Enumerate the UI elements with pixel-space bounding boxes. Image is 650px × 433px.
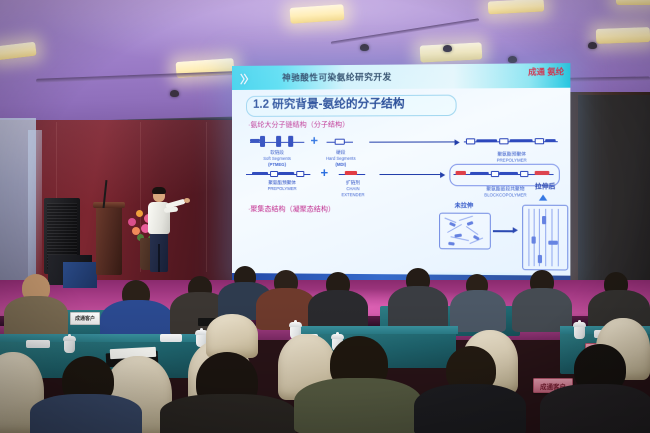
soft-segment-block bbox=[260, 136, 265, 147]
unstretched-label: 未拉伸 bbox=[443, 205, 484, 211]
audience-shoulders bbox=[256, 288, 316, 330]
prepolymer2-block bbox=[270, 171, 278, 177]
block-copolymer-block bbox=[520, 171, 528, 177]
ceiling-camera-icon bbox=[443, 45, 452, 52]
banner-logo-text: 成通 氨纶 bbox=[528, 66, 564, 78]
soft-segment-block bbox=[250, 139, 260, 142]
prepolymer-block-fill bbox=[476, 139, 497, 142]
prepolymer2-label-en: PREPOLYMER bbox=[246, 186, 318, 191]
table-top bbox=[296, 326, 458, 334]
chain-extender-label-en1: CHAIN bbox=[333, 186, 374, 191]
folded-napkin bbox=[26, 340, 50, 348]
banquet-chair bbox=[206, 314, 258, 358]
audience-shoulders bbox=[388, 286, 448, 330]
chain-extender-label-en2: EXTENDER bbox=[331, 192, 376, 197]
soft-segment-code: (PTMEG) bbox=[254, 162, 300, 167]
prepolymer2-block bbox=[278, 171, 294, 174]
hard-segment-label-cn: 硬段 bbox=[320, 150, 361, 156]
projection-screen: 〉〉 神驰酸性可染氨纶研究开发 成通 氨纶 1.2 研究背景-氨纶的分子结构 ·… bbox=[232, 63, 570, 285]
placard-white: 成通客户 bbox=[70, 312, 100, 325]
wall-left-light-strip-edge bbox=[28, 130, 42, 280]
prepolymer-block-fill bbox=[545, 139, 555, 142]
ceiling-panel-light bbox=[596, 27, 650, 44]
prepolymer2-block bbox=[296, 171, 304, 177]
stretched-label: 拉伸后 bbox=[524, 184, 566, 190]
podium-top bbox=[93, 202, 125, 208]
block-copolymer-hard-block bbox=[535, 171, 550, 176]
slide-bullet-molecular-chain: ·氨纶大分子链结构（分子结构） bbox=[248, 119, 349, 129]
audience-shoulders-foreground bbox=[294, 378, 422, 433]
soft-segment-block bbox=[288, 136, 293, 147]
soft-segment-block bbox=[276, 136, 281, 147]
ceiling-camera-icon bbox=[170, 90, 179, 97]
conference-hall-photo: 〉〉 神驰酸性可染氨纶研究开发 成通 氨纶 1.2 研究背景-氨纶的分子结构 ·… bbox=[0, 0, 650, 433]
audience-shoulders bbox=[4, 296, 68, 338]
prepolymer-block-fill bbox=[510, 139, 533, 142]
presenter-speaker bbox=[138, 186, 184, 278]
prepolymer-block bbox=[466, 138, 475, 144]
reaction-arrow-head bbox=[455, 139, 460, 145]
presenter-arm-secondary bbox=[164, 207, 178, 213]
soft-segment-label-cn: 软链段 bbox=[254, 150, 300, 156]
reaction-arrow-2 bbox=[379, 174, 441, 175]
presenter-leg-split bbox=[158, 244, 160, 272]
ceiling-panel-light bbox=[616, 0, 650, 5]
banner-title-text: 神驰酸性可染氨纶研究开发 bbox=[282, 68, 528, 86]
audience-shoulders-foreground bbox=[540, 384, 650, 433]
ceiling-camera-icon bbox=[360, 44, 369, 51]
hard-segment-label-en: Hard Segments bbox=[316, 156, 365, 161]
chain-extender-label-cn: 扩链剂 bbox=[333, 180, 374, 186]
stage-blue-case bbox=[63, 262, 97, 288]
reaction-arrow-head-2 bbox=[440, 171, 445, 177]
podium bbox=[96, 205, 122, 275]
soft-segment-label-en: Soft Segments bbox=[252, 156, 302, 161]
presenter-hand bbox=[184, 198, 190, 203]
block-copolymer-block bbox=[491, 171, 499, 177]
block-copolymer-soft-block bbox=[499, 171, 518, 174]
folded-napkin bbox=[160, 334, 182, 342]
audience-shoulders bbox=[450, 290, 506, 332]
prepolymer-block bbox=[499, 138, 508, 144]
reaction-arrow bbox=[369, 141, 455, 143]
chain-extender-block bbox=[345, 171, 357, 175]
ceiling-camera-icon bbox=[508, 56, 517, 63]
tea-cup bbox=[64, 340, 75, 353]
presenter-hair bbox=[152, 187, 166, 194]
prepolymer-block bbox=[535, 138, 544, 144]
wall-seam bbox=[206, 122, 207, 272]
audience-shoulders-foreground bbox=[30, 394, 142, 433]
tea-cup bbox=[574, 326, 585, 339]
prepolymer2-block bbox=[252, 171, 268, 174]
slide-bullet-aggregate-structure: ·聚集态结构（凝聚态结构） bbox=[248, 204, 335, 214]
block-copolymer-hard-block bbox=[456, 171, 466, 175]
plus-icon: + bbox=[310, 136, 318, 146]
chevron-right-icon: 〉〉 bbox=[240, 71, 253, 87]
audience-shoulders-foreground bbox=[414, 384, 526, 433]
slide-title: 1.2 研究背景-氨纶的分子结构 bbox=[253, 96, 457, 114]
block-copolymer-soft-block bbox=[470, 171, 489, 174]
plus-icon: + bbox=[320, 168, 328, 178]
ceiling-camera-icon bbox=[588, 42, 597, 49]
stretch-up-arrow-icon bbox=[539, 194, 547, 200]
hard-segment-block bbox=[335, 139, 345, 145]
audience-shoulders-foreground bbox=[160, 394, 296, 433]
prepolymer2-label-cn: 聚氨酯预聚体 bbox=[246, 180, 318, 186]
prepolymer-label-cn: 聚氨酯预聚体 bbox=[468, 151, 556, 157]
prepolymer-label-en: PREPOLYMER bbox=[468, 158, 556, 163]
